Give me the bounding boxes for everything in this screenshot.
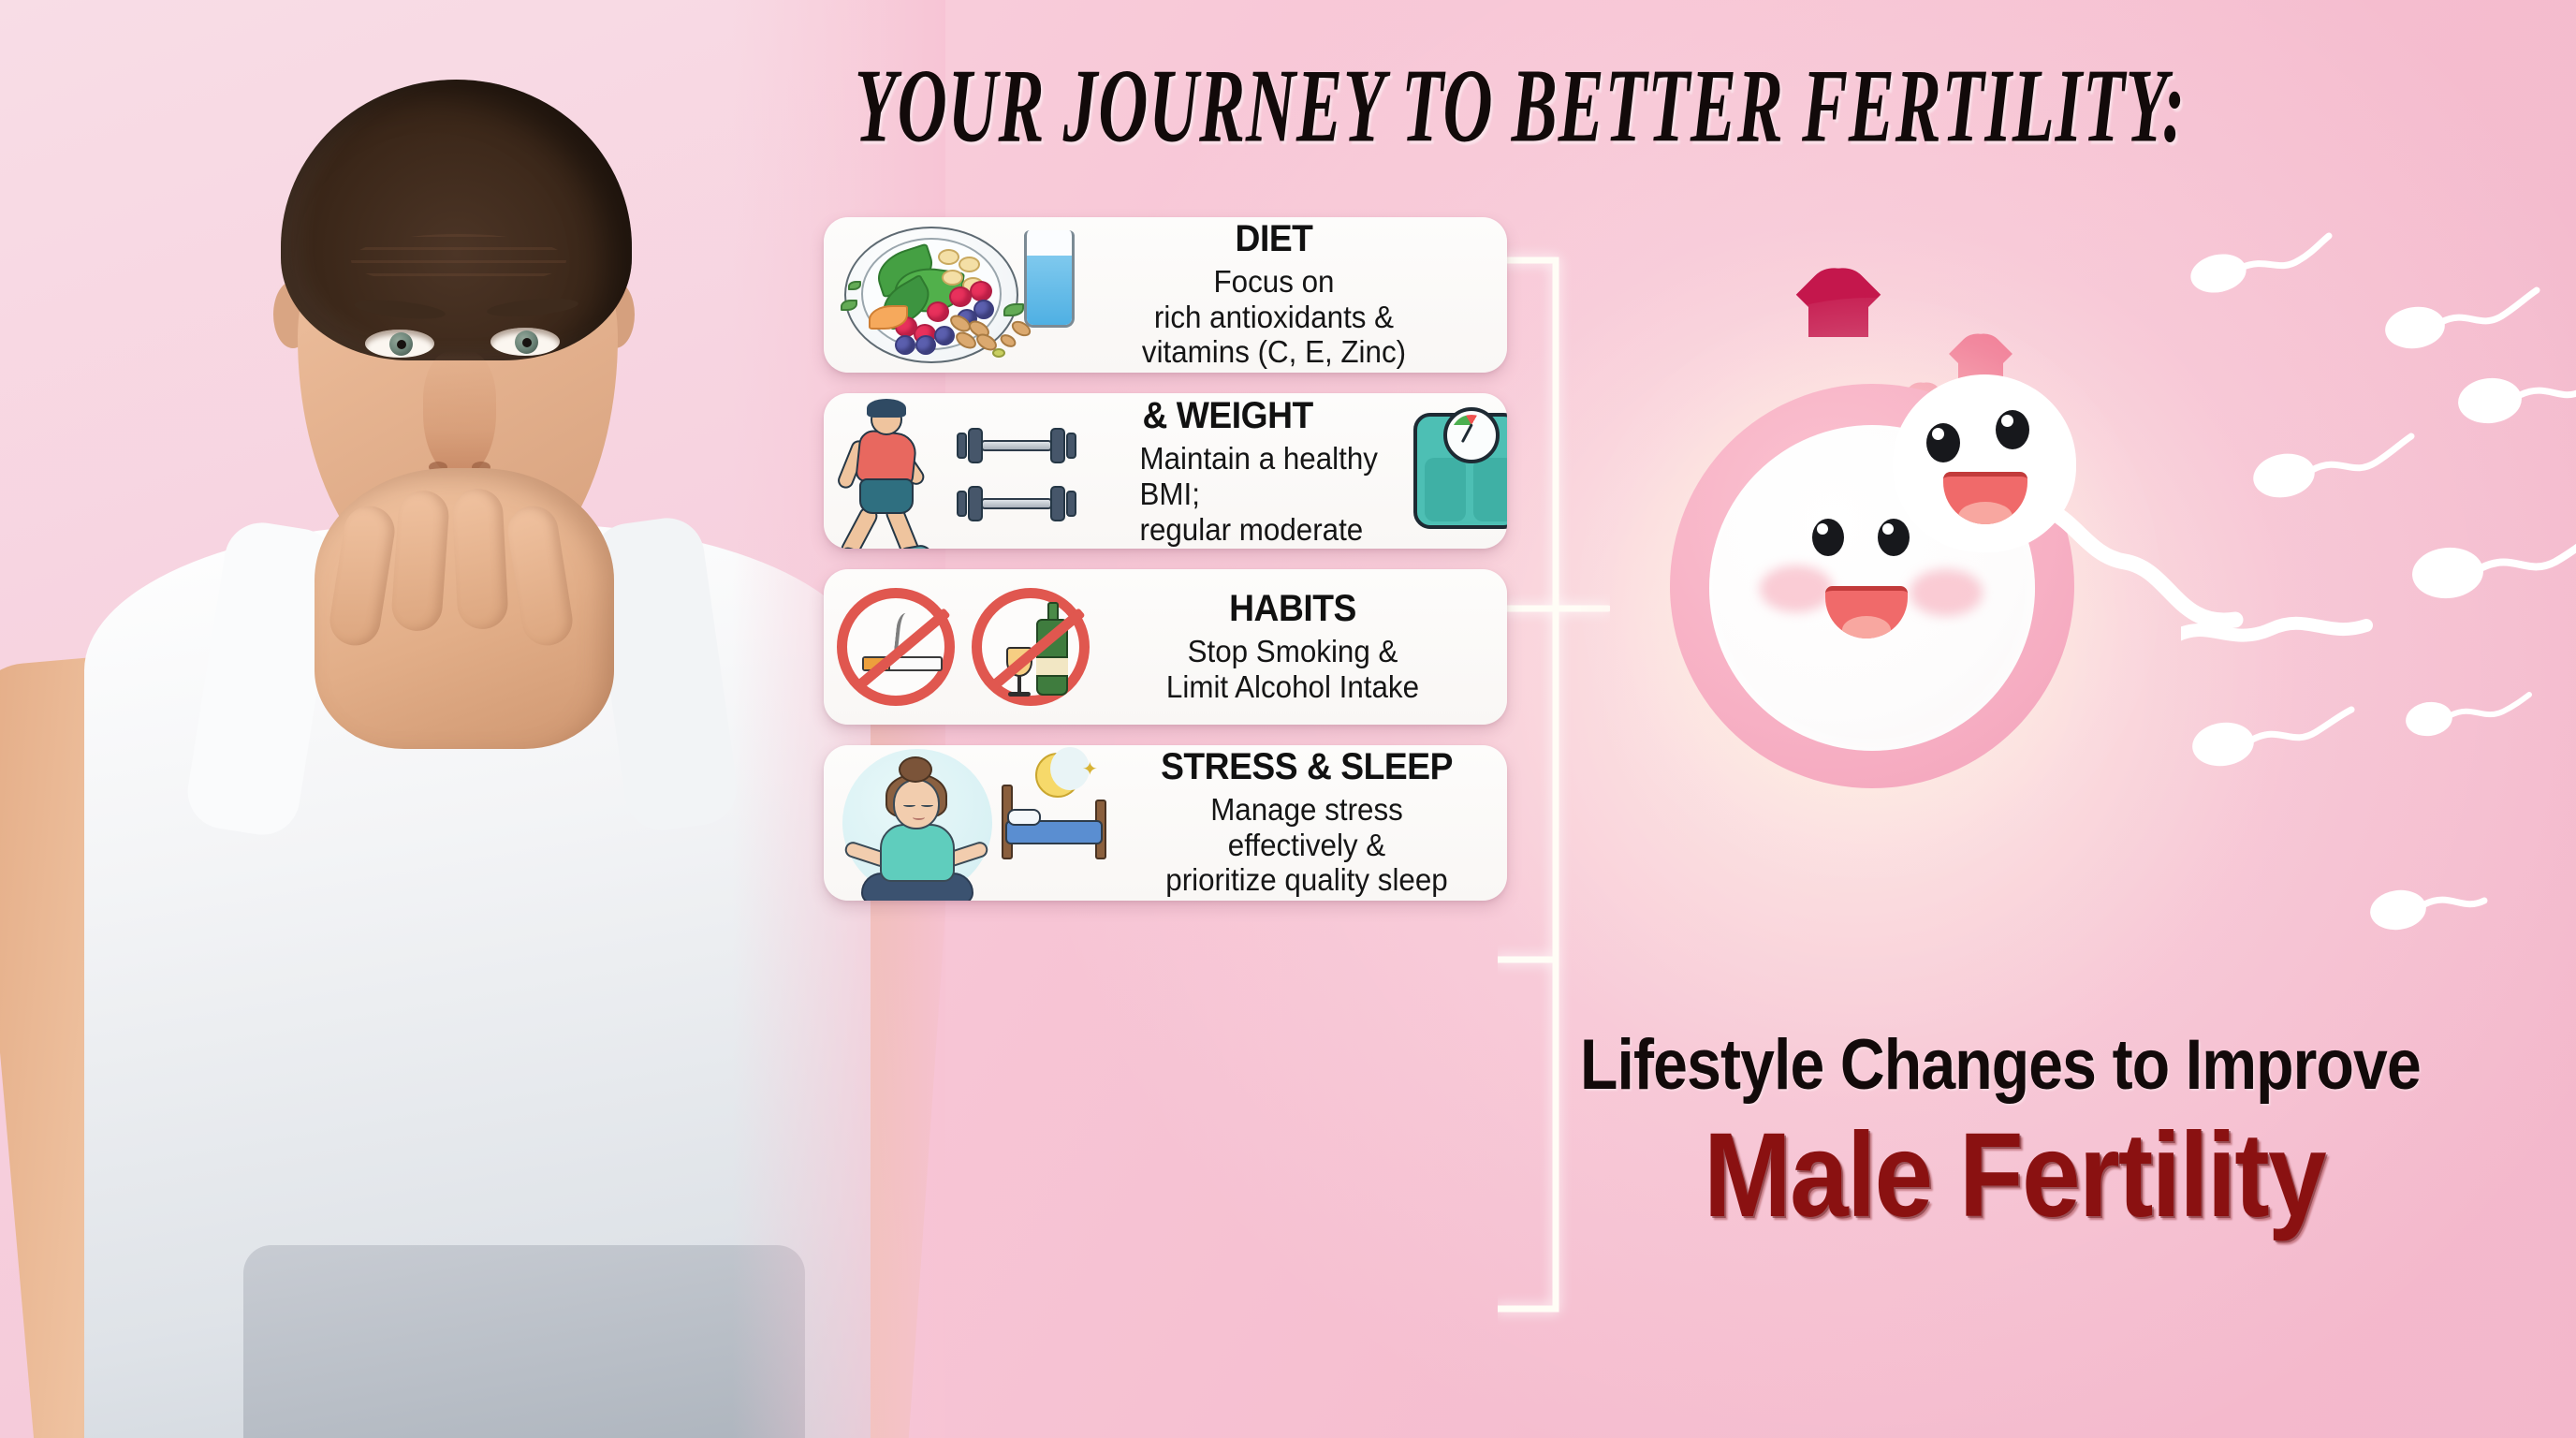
man-nose [423, 351, 496, 477]
concerned-man-photo [0, 0, 945, 1438]
habits-art [837, 588, 1090, 706]
egg-eye-left [1812, 519, 1844, 556]
sperm-character [1893, 358, 2230, 667]
plate-of-food-icon [837, 225, 1052, 365]
no-smoking-icon [837, 588, 955, 706]
sleep-body: Manage stress effectively & prioritize q… [1133, 792, 1481, 898]
diet-body: Focus on rich antioxidants & vitamins (C… [1069, 264, 1480, 370]
diet-text: DIET Focus on rich antioxidants & vitami… [1052, 220, 1490, 370]
exercise-body: Maintain a healthy BMI; regular moderate… [1140, 441, 1407, 549]
sperm-eye-right [1996, 410, 2029, 449]
egg-blush-left [1760, 565, 1833, 612]
sleep-art: ✦ [837, 753, 1118, 893]
water-glass-icon [1024, 230, 1075, 328]
card-habits[interactable]: HABITS Stop Smoking & Limit Alcohol Inta… [824, 569, 1507, 725]
headline-line-1: Lifestyle Changes to Improve [1580, 1024, 2419, 1106]
dumbbell-icon-bottom [957, 482, 1076, 525]
card-diet[interactable]: DIET Focus on rich antioxidants & vitami… [824, 217, 1507, 373]
exercise-art [837, 400, 1127, 542]
infographic-canvas: YOUR JOURNEY TO BETTER FERTILITY: [0, 0, 2576, 1438]
sleep-heading: STRESS & SLEEP [1136, 748, 1478, 785]
man-forehead-lines [351, 234, 566, 286]
habits-text: HABITS Stop Smoking & Limit Alcohol Inta… [1090, 590, 1490, 704]
man-eye-left [365, 330, 434, 358]
diet-art [837, 225, 1052, 365]
headline-line-2: Male Fertility [1704, 1107, 2552, 1244]
man-shorts [243, 1245, 805, 1438]
sperm-eye-left [1926, 423, 1960, 462]
dumbbell-icon-top [957, 424, 1076, 467]
card-exercise[interactable]: EXERCISE & WEIGHT Maintain a healthy BMI… [824, 393, 1507, 549]
sperm-head [1893, 374, 2076, 552]
habits-body: Stop Smoking & Limit Alcohol Intake [1105, 634, 1481, 704]
card-sleep[interactable]: ✦ STRESS & SLEEP Manage stress effective… [824, 745, 1507, 901]
no-alcohol-icon [972, 588, 1090, 706]
exercise-text: EXERCISE & WEIGHT Maintain a healthy BMI… [1127, 393, 1507, 549]
man-clasped-hands [315, 468, 614, 749]
exercise-heading-line2: & WEIGHT [1143, 397, 1404, 434]
sleep-text: STRESS & SLEEP Manage stress effectively… [1118, 748, 1490, 898]
habits-heading: HABITS [1109, 590, 1476, 627]
man-eye-right [490, 328, 560, 356]
page-title: YOUR JOURNEY TO BETTER FERTILITY: [824, 45, 2217, 170]
diet-heading: DIET [1073, 220, 1475, 257]
weighing-scale-icon [1413, 413, 1507, 529]
advice-card-list: DIET Focus on rich antioxidants & vitami… [824, 217, 1516, 921]
